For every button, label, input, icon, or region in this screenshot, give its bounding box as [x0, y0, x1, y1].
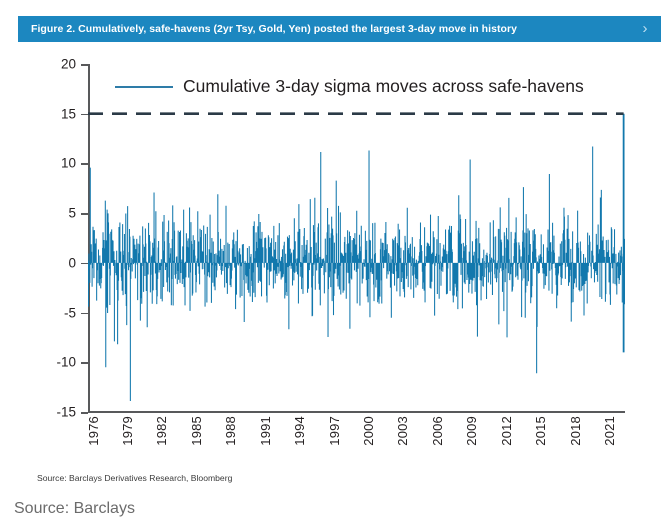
x-axis-label: 1997: [327, 416, 342, 446]
x-axis-label: 1979: [120, 416, 135, 446]
series-lines: [88, 147, 625, 402]
y-axis-tick: [81, 263, 88, 265]
x-axis-label: 2012: [499, 416, 514, 446]
x-axis-label: 2018: [568, 416, 583, 446]
y-axis-tick: [81, 362, 88, 364]
y-axis-label: 10: [61, 156, 76, 171]
y-axis-labels: 20151050-5-10-15: [30, 0, 76, 528]
plot-area: [88, 64, 625, 412]
x-axis-label: 1976: [86, 416, 101, 446]
source-note: Source: Barclays Derivatives Research, B…: [37, 473, 232, 483]
bottom-caption: Source: Barclays: [14, 500, 135, 518]
y-axis-label: 15: [61, 106, 76, 121]
y-axis-label: -15: [56, 405, 76, 420]
y-axis-label: 5: [68, 206, 76, 221]
x-axis-label: 2003: [395, 416, 410, 446]
x-axis-label: 1988: [223, 416, 238, 446]
figure-title: Figure 2. Cumulatively, safe-havens (2yr…: [31, 23, 517, 35]
screenshot-root: Figure 2. Cumulatively, safe-havens (2yr…: [0, 0, 661, 528]
y-axis-tick: [81, 163, 88, 165]
x-axis-label: 2006: [430, 416, 445, 446]
y-axis-label: 20: [61, 57, 76, 72]
y-axis-tick: [81, 213, 88, 215]
x-axis-label: 1994: [292, 416, 307, 446]
y-axis-tick: [81, 412, 88, 414]
x-axis-label: 1991: [258, 416, 273, 446]
x-axis-label: 2015: [533, 416, 548, 446]
y-axis-tick: [81, 114, 88, 116]
y-axis-label: -5: [64, 305, 76, 320]
y-axis-label: 0: [68, 255, 76, 270]
x-axis-label: 1982: [154, 416, 169, 446]
y-axis-label: -10: [56, 355, 76, 370]
figure-banner: Figure 2. Cumulatively, safe-havens (2yr…: [18, 16, 661, 42]
chevron-right-icon[interactable]: ›: [638, 22, 652, 36]
x-axis-label: 2000: [361, 416, 376, 446]
x-axis-label: 2009: [464, 416, 479, 446]
y-axis-tick: [81, 313, 88, 315]
x-axis-label: 1985: [189, 416, 204, 446]
series-plot: [88, 64, 625, 412]
y-axis-tick: [81, 64, 88, 66]
x-axis-label: 2021: [602, 416, 617, 446]
